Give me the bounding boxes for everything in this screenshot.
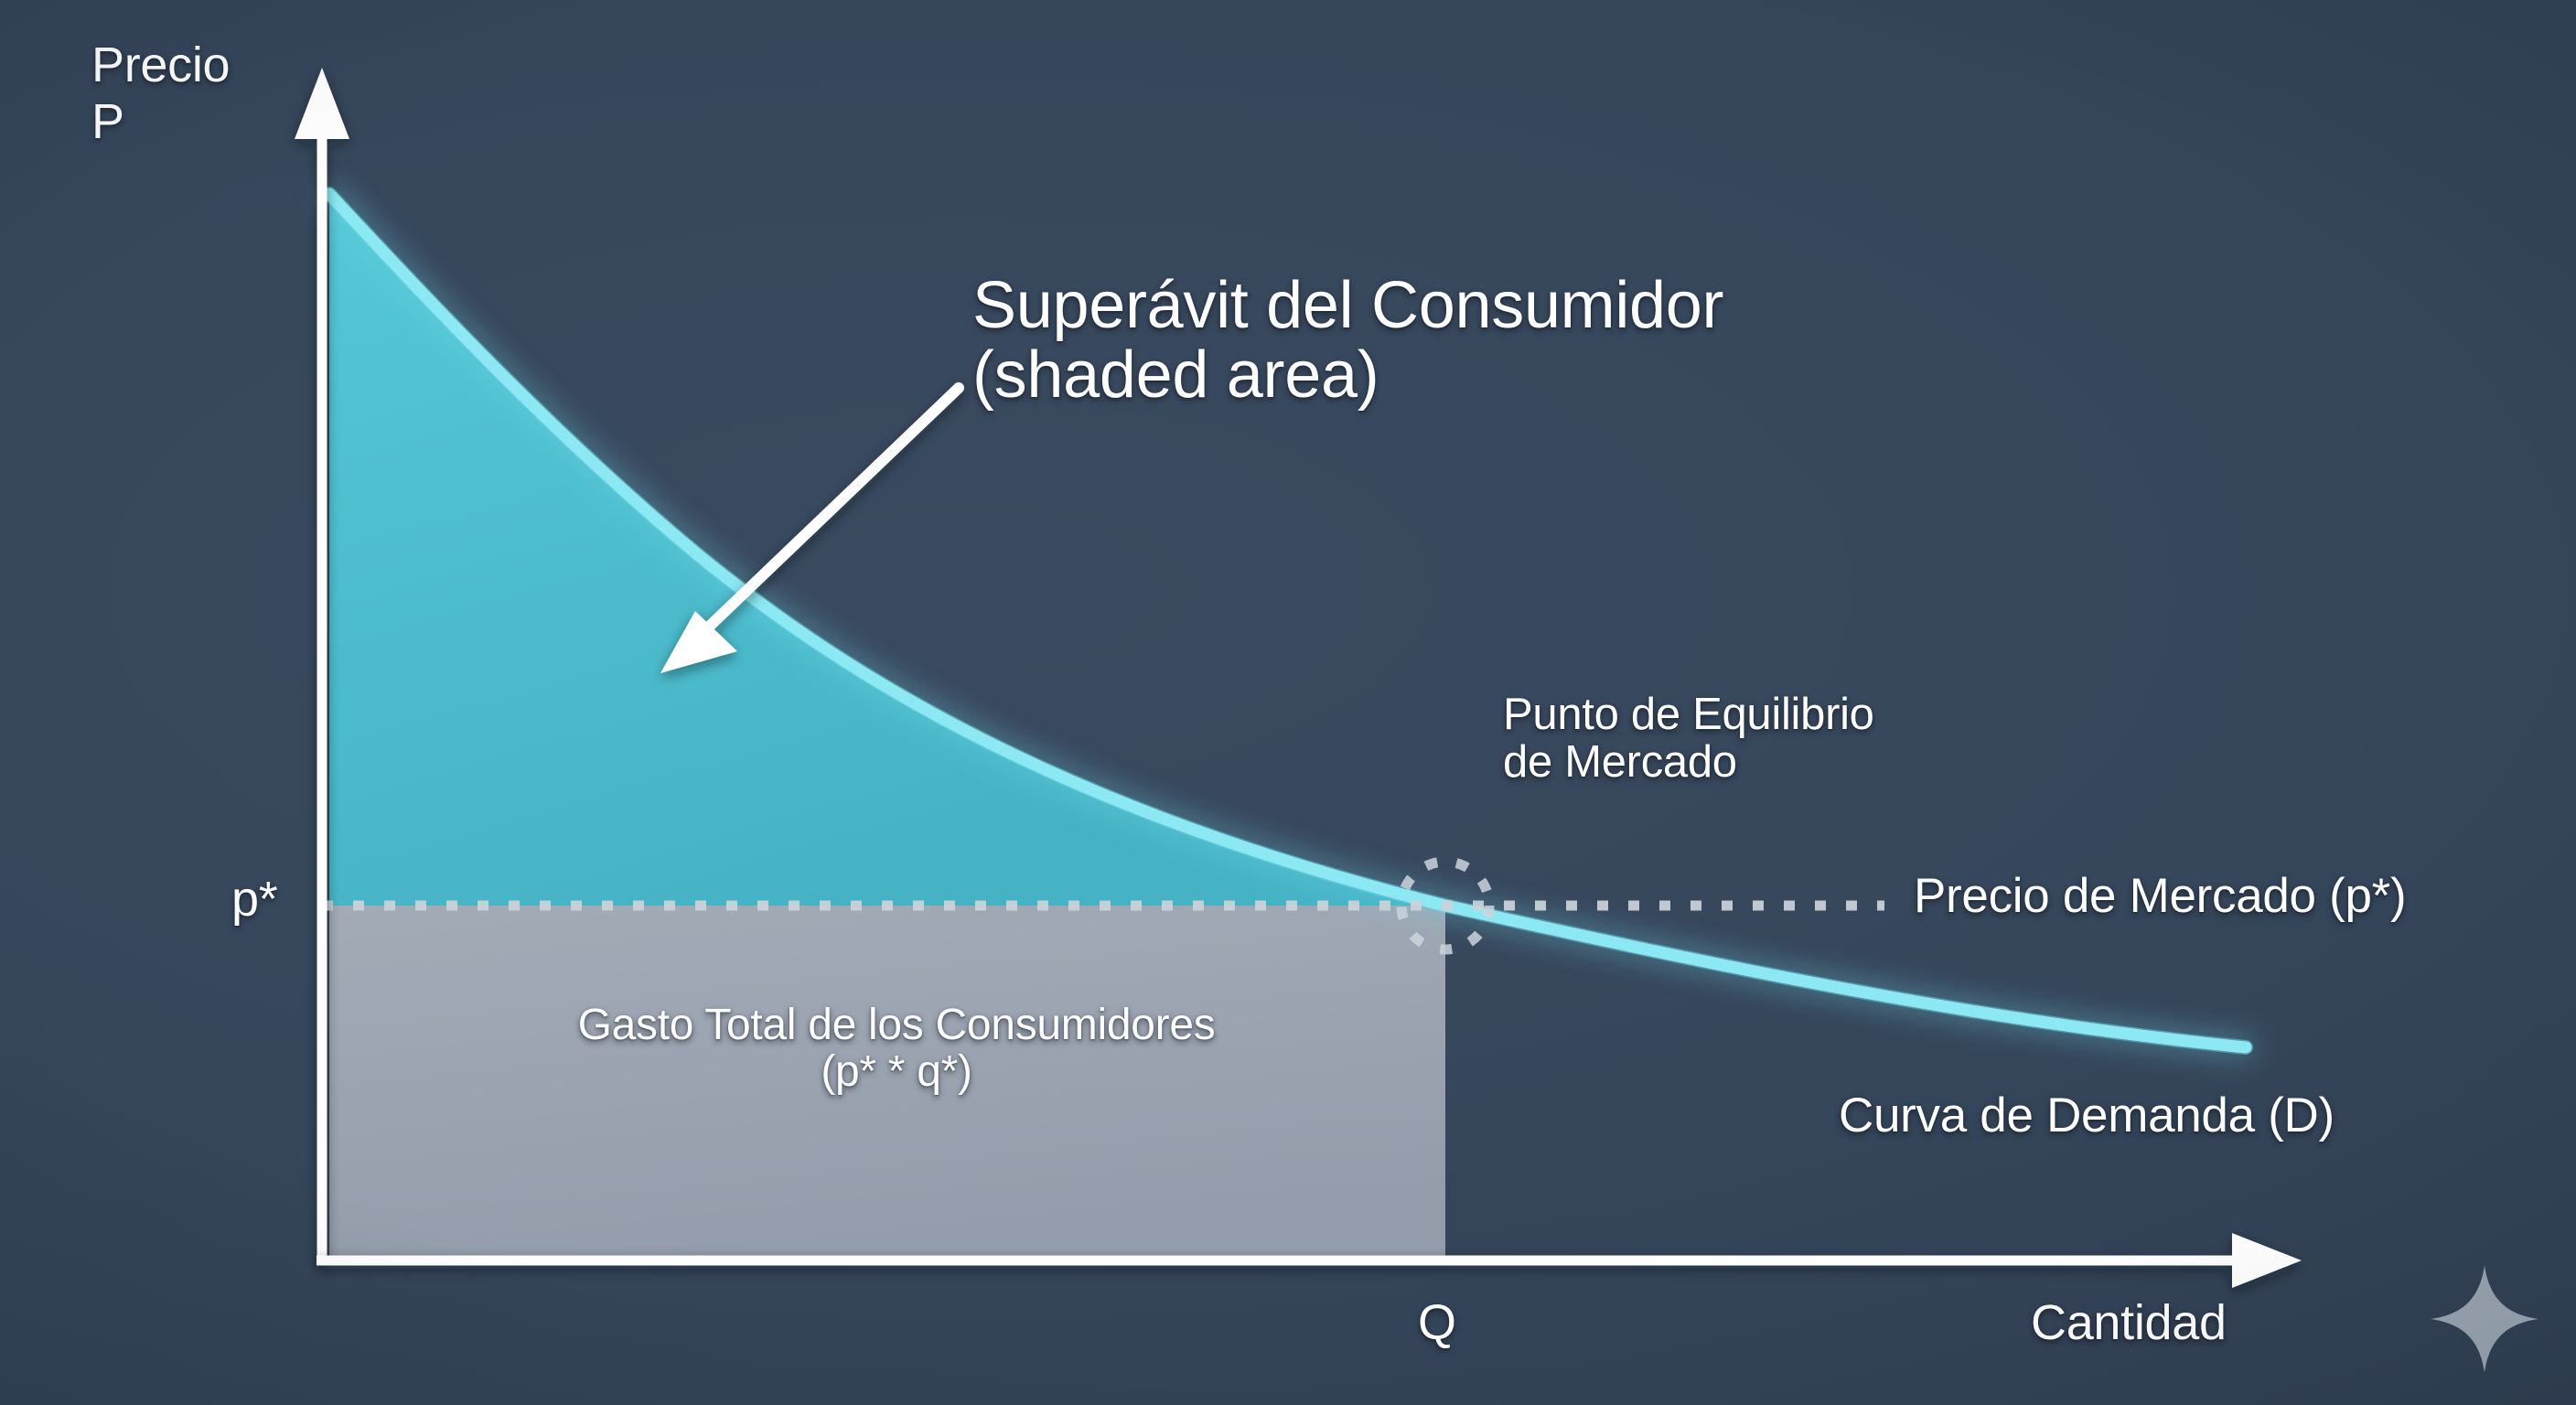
- four-pointed-star-sparkle-icon: [2426, 1260, 2543, 1378]
- diagram-canvas: PrecioP p* Q Cantidad Superávit del Cons…: [0, 0, 2576, 1405]
- y-tick-label-pstar: p*: [231, 874, 277, 926]
- surplus-title-line1: Superávit del Consumidor: [972, 269, 1723, 342]
- y-axis-label-line1: Precio: [91, 38, 230, 92]
- y-axis-label-line2: P: [91, 94, 124, 149]
- total-expenditure-label-line1: Gasto Total de los Consumidores: [578, 1001, 1216, 1049]
- equilibrium-note-line1: Punto de Equilibrio: [1503, 690, 1874, 739]
- diagram-graphics: [0, 0, 2576, 1405]
- market-price-label: Precio de Mercado (p*): [1914, 871, 2406, 922]
- demand-curve-label: Curva de Demanda (D): [1839, 1090, 2334, 1142]
- surplus-title: Superávit del Consumidor(shaded area): [972, 271, 1723, 411]
- surplus-title-line2: (shaded area): [972, 338, 1379, 412]
- equilibrium-note: Punto de Equilibriode Mercado: [1503, 692, 1874, 787]
- total-expenditure-label: Gasto Total de los Consumidores(p* * q*): [366, 1003, 1427, 1096]
- x-axis-label: Cantidad: [2031, 1297, 2227, 1349]
- total-expenditure-label-line2: (p* * q*): [821, 1047, 971, 1096]
- y-axis-label: PrecioP: [91, 37, 230, 150]
- equilibrium-note-line2: de Mercado: [1503, 737, 1737, 787]
- x-tick-label-q: Q: [1418, 1297, 1456, 1349]
